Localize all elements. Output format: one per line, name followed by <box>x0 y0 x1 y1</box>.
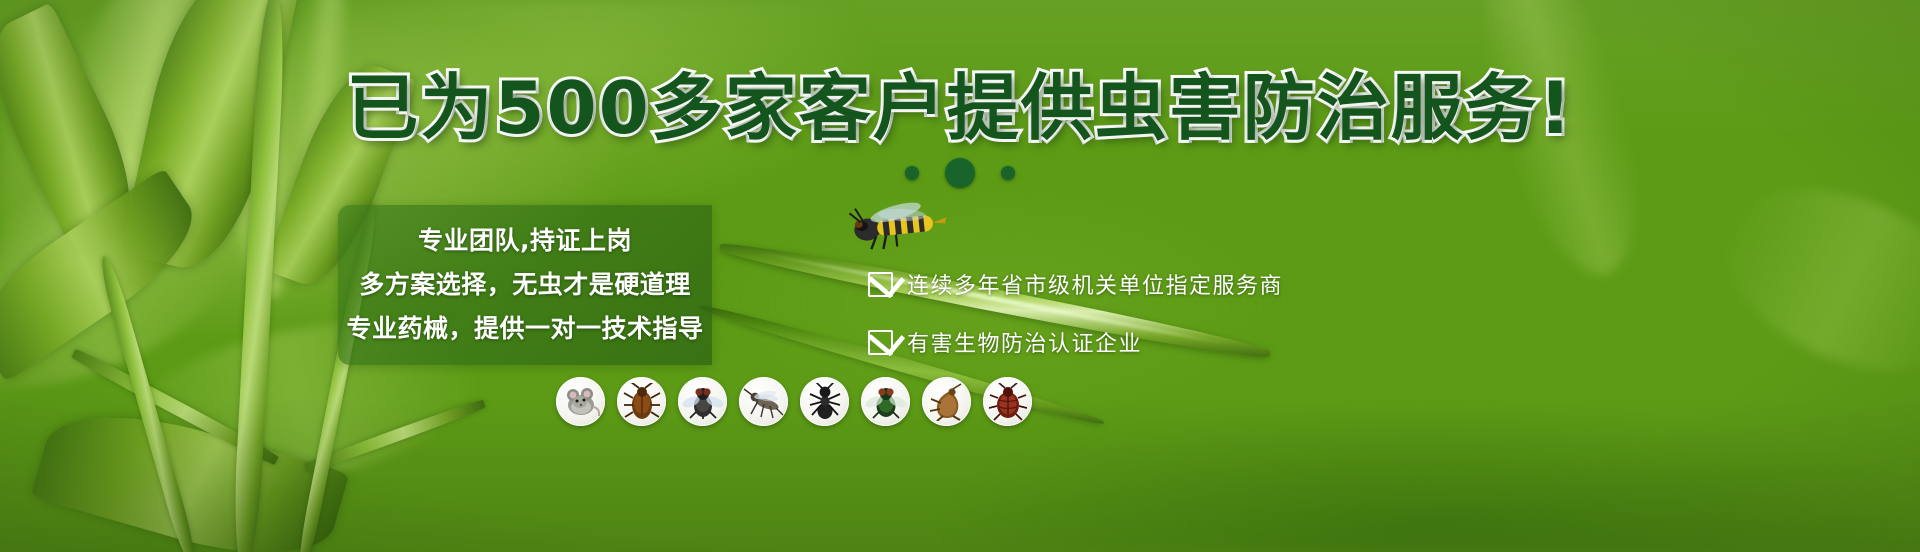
bedbug-icon[interactable] <box>983 377 1032 426</box>
banner-headline-text: 已为500多家客户提供虫害防治服务! <box>346 66 1573 150</box>
mosquito-icon[interactable] <box>739 377 788 426</box>
decorative-dots <box>0 158 1920 188</box>
decor-dot-small <box>1001 166 1015 180</box>
pest-type-row <box>556 377 1032 426</box>
blowfly-icon[interactable] <box>861 377 910 426</box>
selling-point-line: 多方案选择，无虫才是硬道理 <box>359 271 691 299</box>
selling-point-line: 专业团队,持证上岗 <box>418 227 632 255</box>
selling-points-list: 专业团队,持证上岗 多方案选择，无虫才是硬道理 专业药械，提供一对一技术指导 <box>338 205 712 365</box>
credential-item: 连续多年省市级机关单位指定服务商 <box>868 268 1283 300</box>
flea-icon[interactable] <box>922 377 971 426</box>
promo-banner: 已为500多家客户提供虫害防治服务! 专业团队,持证上岗 多方案选择，无虫才是硬… <box>0 0 1920 552</box>
housefly-icon[interactable] <box>678 377 727 426</box>
decor-dot-small <box>905 166 919 180</box>
credential-item: 有害生物防治认证企业 <box>868 326 1283 358</box>
cockroach-icon[interactable] <box>617 377 666 426</box>
credential-label: 连续多年省市级机关单位指定服务商 <box>907 268 1283 300</box>
checkbox-checked-icon <box>868 330 893 355</box>
selling-point-line: 专业药械，提供一对一技术指导 <box>346 315 703 343</box>
banner-headline: 已为500多家客户提供虫害防治服务! <box>0 72 1920 144</box>
mouse-icon[interactable] <box>556 377 605 426</box>
ant-icon[interactable] <box>800 377 849 426</box>
credential-label: 有害生物防治认证企业 <box>907 326 1142 358</box>
credentials-list: 连续多年省市级机关单位指定服务商 有害生物防治认证企业 <box>868 268 1283 358</box>
decor-dot-large <box>945 158 975 188</box>
checkbox-checked-icon <box>868 272 893 297</box>
